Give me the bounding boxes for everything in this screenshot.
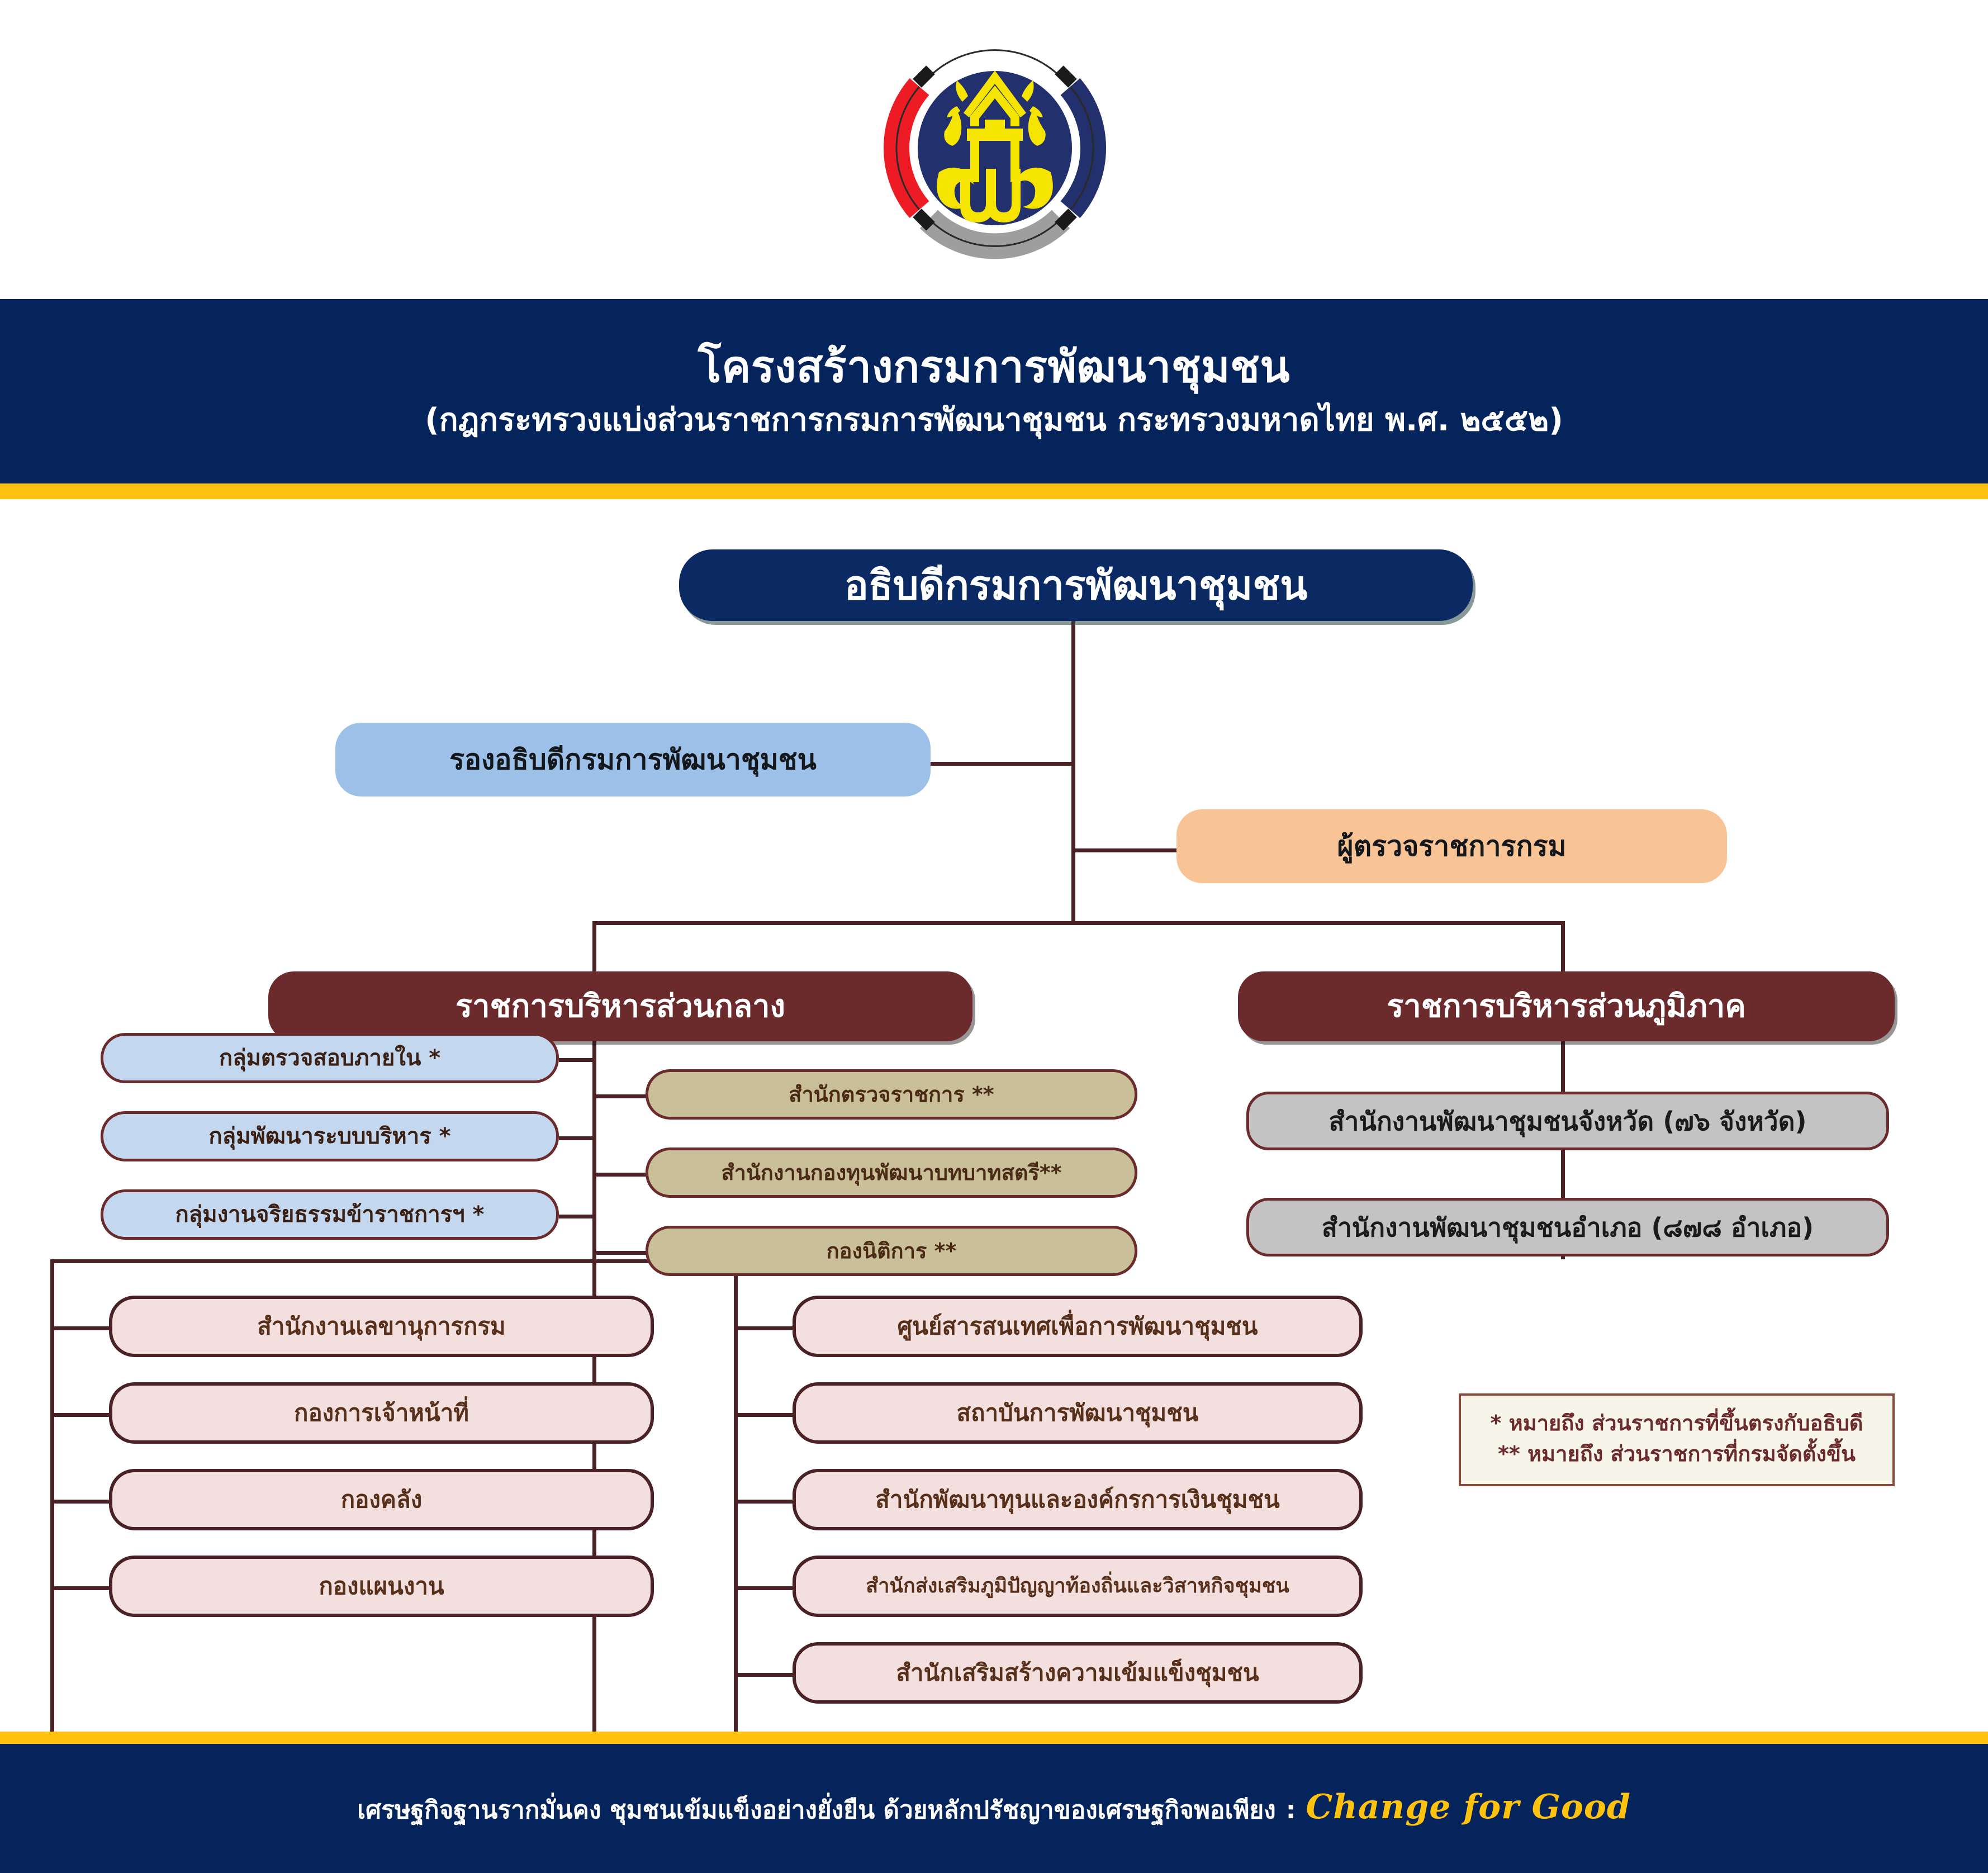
node-personnel-label: กองการเจ้าหน้าที่	[294, 1401, 469, 1425]
node-district-office-label: สำนักงานพัฒนาชุมชนอำเภอ (๘๗๘ อำเภอ)	[1322, 1215, 1814, 1240]
connector-stub-bureau-r5	[734, 1673, 795, 1677]
node-personnel-division[interactable]: กองการเจ้าหน้าที่	[109, 1382, 654, 1444]
department-emblem-logo	[861, 17, 1129, 279]
connector-stub-bureau-r1	[734, 1326, 795, 1330]
legend-line-double-star: ** หมายถึง ส่วนราชการที่กรมจัดตั้งขึ้น	[1478, 1439, 1876, 1469]
node-community-strengthening-bureau[interactable]: สำนักเสริมสร้างความเข้มแข็งชุมชน	[793, 1642, 1363, 1704]
header-accent-rule	[0, 483, 1988, 499]
node-bureau-inspection-label: สำนักตรวจราชการ **	[789, 1084, 994, 1105]
org-chart: อธิบดีกรมการพัฒนาชุมชน รองอธิบดีกรมการพั…	[0, 499, 1988, 1733]
connector-stub-bureau-r4	[734, 1586, 795, 1590]
node-finance-division[interactable]: กองคลัง	[109, 1469, 654, 1530]
connector-bureau-left-rail	[50, 1259, 54, 1762]
connector-dg-to-inspector	[1071, 848, 1183, 852]
node-director-general-label: อธิบดีกรมการพัฒนาชุมชน	[844, 565, 1308, 605]
connector-to-regional	[1561, 921, 1565, 971]
node-information-center[interactable]: ศูนย์สารสนเทศเพื่อการพัฒนาชุมชน	[793, 1296, 1363, 1357]
footer-vision-text: เศรษฐกิจฐานรากมั่นคง ชุมชนเข้มแข็งอย่างย…	[357, 1790, 1276, 1829]
node-admin-system-label: กลุ่มพัฒนาระบบบริหาร *	[208, 1125, 450, 1147]
connector-stub-olive-2	[592, 1173, 648, 1177]
node-section-central-label: ราชการบริหารส่วนกลาง	[456, 991, 785, 1022]
connector-stub-bureau-l2	[50, 1413, 112, 1417]
connector-stub-bureau-r3	[734, 1500, 795, 1504]
footer-accent-rule	[0, 1732, 1988, 1744]
node-cd-institute-label: สถาบันการพัฒนาชุมชน	[957, 1401, 1199, 1425]
connector-stub-blue-3	[559, 1215, 595, 1218]
node-finance-label: กองคลัง	[341, 1488, 423, 1511]
connector-stub-blue-1	[559, 1058, 595, 1062]
connector-section-bar	[592, 921, 1565, 925]
footer-slogan: Change for Good	[1306, 1787, 1630, 1827]
node-womens-development-fund-office[interactable]: สำนักงานกองทุนพัฒนาบทบาทสตรี**	[646, 1147, 1137, 1198]
node-section-regional-label: ราชการบริหารส่วนภูมิภาค	[1387, 991, 1746, 1022]
node-district-cd-office[interactable]: สำนักงานพัฒนาชุมชนอำเภอ (๘๗๘ อำเภอ)	[1246, 1198, 1889, 1256]
node-inspector-label: ผู้ตรวจราชการกรม	[1337, 832, 1566, 860]
node-provincial-office-label: สำนักงานพัฒนาชุมชนจังหวัด (๗๖ จังหวัด)	[1329, 1108, 1806, 1134]
node-internal-audit-group[interactable]: กลุ่มตรวจสอบภายใน *	[101, 1033, 559, 1083]
footer-colon: :	[1286, 1796, 1296, 1824]
header-band: โครงสร้างกรมการพัฒนาชุมชน (กฎกระทรวงแบ่ง…	[0, 299, 1988, 483]
connector-stub-olive-3	[592, 1251, 648, 1255]
connector-to-central	[592, 921, 596, 971]
connector-dg-to-deputy	[928, 762, 1073, 766]
connector-stub-bureau-l1	[50, 1326, 112, 1330]
node-office-secretary-label: สำนักงานเลขานุการกรม	[257, 1315, 506, 1338]
node-planning-label: กองแผนงาน	[319, 1575, 444, 1598]
connector-bureau-top-bar	[50, 1259, 738, 1263]
node-planning-division[interactable]: กองแผนงาน	[109, 1556, 654, 1617]
connector-stub-blue-2	[559, 1136, 595, 1140]
node-department-inspector[interactable]: ผู้ตรวจราชการกรม	[1176, 809, 1727, 883]
node-section-regional-administration[interactable]: ราชการบริหารส่วนภูมิภาค	[1238, 971, 1895, 1041]
node-information-center-label: ศูนย์สารสนเทศเพื่อการพัฒนาชุมชน	[898, 1315, 1258, 1338]
node-local-wisdom-label: สำนักส่งเสริมภูมิปัญญาท้องถิ่นและวิสาหกิ…	[866, 1576, 1289, 1596]
node-ethics-label: กลุ่มงานจริยธรรมข้าราชการฯ *	[175, 1203, 485, 1226]
emblem-svg	[861, 17, 1129, 279]
legend-line-single-star: * หมายถึง ส่วนราชการที่ขึ้นตรงกับอธิบดี	[1478, 1408, 1876, 1439]
node-internal-audit-label: กลุ่มตรวจสอบภายใน *	[219, 1047, 440, 1069]
connector-stub-olive-1	[592, 1094, 648, 1098]
connector-stub-bureau-l4	[50, 1586, 112, 1590]
node-deputy-label: รองอธิบดีกรมการพัฒนาชุมชน	[449, 746, 817, 774]
connector-dg-spine	[1071, 619, 1075, 924]
node-director-general[interactable]: อธิบดีกรมการพัฒนาชุมชน	[679, 549, 1473, 621]
footer-band: เศรษฐกิจฐานรากมั่นคง ชุมชนเข้มแข็งอย่างย…	[0, 1744, 1988, 1873]
node-section-central-administration[interactable]: ราชการบริหารส่วนกลาง	[268, 971, 972, 1041]
node-community-development-institute[interactable]: สถาบันการพัฒนาชุมชน	[793, 1382, 1363, 1444]
logo-area	[0, 0, 1988, 299]
node-bureau-of-inspection[interactable]: สำนักตรวจราชการ **	[646, 1069, 1137, 1120]
node-womens-fund-label: สำนักงานกองทุนพัฒนาบทบาทสตรี**	[721, 1162, 1061, 1183]
node-deputy-director-general[interactable]: รองอธิบดีกรมการพัฒนาชุมชน	[335, 723, 931, 796]
node-capital-bureau-label: สำนักพัฒนาทุนและองค์กรการเงินชุมชน	[875, 1488, 1279, 1511]
legend-box: * หมายถึง ส่วนราชการที่ขึ้นตรงกับอธิบดี …	[1459, 1393, 1895, 1486]
node-admin-system-development-group[interactable]: กลุ่มพัฒนาระบบบริหาร *	[101, 1111, 559, 1161]
node-local-wisdom-bureau[interactable]: สำนักส่งเสริมภูมิปัญญาท้องถิ่นและวิสาหกิ…	[793, 1556, 1363, 1617]
page-title: โครงสร้างกรมการพัฒนาชุมชน	[698, 345, 1290, 391]
node-office-of-secretary[interactable]: สำนักงานเลขานุการกรม	[109, 1296, 654, 1357]
node-civil-servant-ethics-group[interactable]: กลุ่มงานจริยธรรมข้าราชการฯ *	[101, 1189, 559, 1240]
page-subtitle: (กฎกระทรวงแบ่งส่วนราชการกรมการพัฒนาชุมชน…	[425, 403, 1563, 438]
connector-stub-bureau-r2	[734, 1413, 795, 1417]
node-legal-affairs-division[interactable]: กองนิติการ **	[646, 1226, 1137, 1276]
node-provincial-cd-office[interactable]: สำนักงานพัฒนาชุมชนจังหวัด (๗๖ จังหวัด)	[1246, 1092, 1889, 1150]
connector-stub-bureau-l3	[50, 1500, 112, 1504]
node-legal-affairs-label: กองนิติการ **	[827, 1240, 957, 1262]
node-strengthening-label: สำนักเสริมสร้างความเข้มแข็งชุมชน	[896, 1661, 1259, 1685]
node-community-capital-bureau[interactable]: สำนักพัฒนาทุนและองค์กรการเงินชุมชน	[793, 1469, 1363, 1530]
